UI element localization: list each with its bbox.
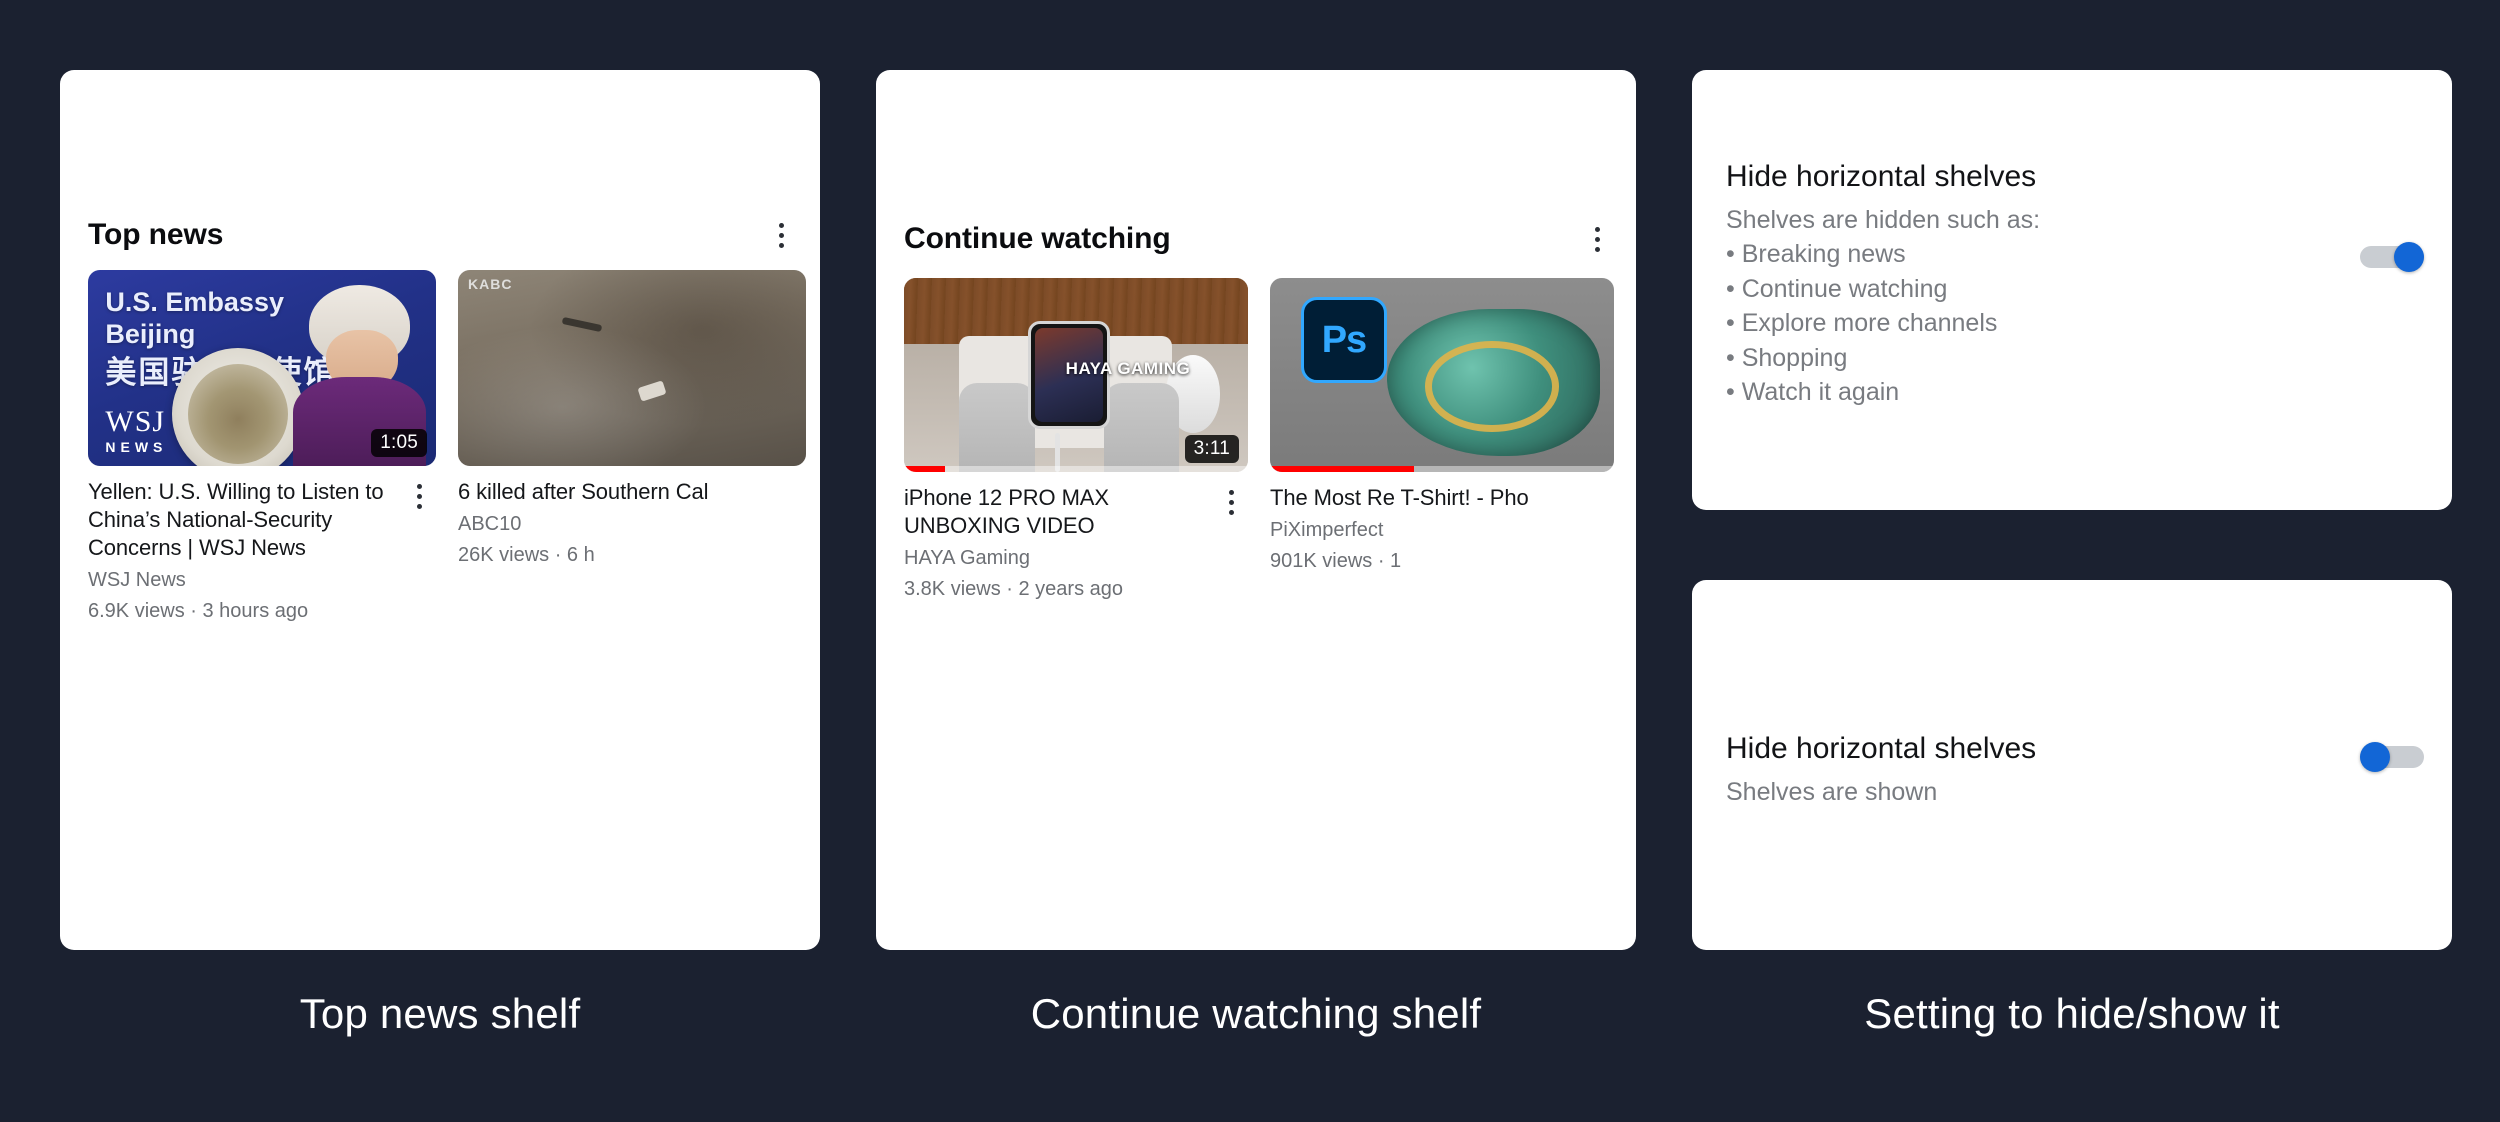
video-duration-badge: 1:05 (371, 429, 427, 457)
thumbnail-art-aerial: KABC (458, 270, 806, 466)
panel-setting: Hide horizontal shelves Shelves are hidd… (1692, 0, 2452, 1122)
shelf-header-top-news: Top news (88, 218, 798, 252)
video-thumbnail[interactable]: Ps (1270, 278, 1614, 472)
toggle-knob (2394, 242, 2424, 272)
panel-continue-watching: Continue watching (876, 0, 1636, 1122)
video-card[interactable]: Ps The Most Re T-Shirt! - Pho PiXimperfe… (1270, 278, 1614, 602)
photoshop-badge-icon: Ps (1301, 297, 1387, 383)
panel-caption: Setting to hide/show it (1692, 990, 2452, 1038)
setting-description: Shelves are hidden such as: • Breaking n… (1726, 203, 2336, 410)
video-stats: 6.9K views · 3 hours ago (88, 598, 396, 624)
video-shelf-row[interactable]: U.S. Embassy Beijing 美国驻华大使馆 WSJ NEWS (88, 270, 820, 624)
phone-screen-continue-watching: Continue watching (876, 70, 1636, 950)
video-duration-badge: 3:11 (1185, 435, 1239, 463)
thumbnail-overlay-text: HAYA GAMING (1066, 359, 1191, 379)
video-card[interactable]: U.S. Embassy Beijing 美国驻华大使馆 WSJ NEWS (88, 270, 436, 624)
video-stats: 3.8K views · 2 years ago (904, 576, 1208, 602)
hide-shelves-toggle[interactable] (2360, 242, 2424, 272)
video-overflow-menu-icon[interactable] (1214, 486, 1248, 520)
embassy-seal-icon (172, 348, 304, 465)
debris-shape (637, 380, 666, 401)
wsj-logo: WSJ NEWS (105, 407, 167, 454)
video-metadata: The Most Re T-Shirt! - Pho PiXimperfect … (1270, 472, 1614, 574)
hide-shelves-toggle[interactable] (2360, 742, 2424, 772)
video-overflow-menu-icon[interactable] (402, 480, 436, 514)
video-channel[interactable]: PiXimperfect (1270, 517, 1614, 543)
dragon-illustration (1387, 309, 1600, 456)
setting-card-shown-state: Hide horizontal shelves Shelves are show… (1692, 580, 2452, 950)
shelf-title: Continue watching (904, 222, 1171, 256)
video-title[interactable]: Yellen: U.S. Willing to Listen to China’… (88, 478, 396, 562)
shelf-overflow-menu-icon[interactable] (764, 218, 798, 252)
setting-title: Hide horizontal shelves (1726, 158, 2336, 196)
wsj-logo-text: WSJ (105, 405, 165, 438)
video-stats: 26K views · 6 h (458, 542, 806, 568)
setting-bullet: • Breaking news (1726, 237, 2336, 272)
shelf-header-continue-watching: Continue watching (904, 222, 1614, 256)
video-stats: 901K views · 1 (1270, 548, 1614, 574)
setting-bullet: • Shopping (1726, 341, 2336, 376)
video-shelf-row[interactable]: HAYA GAMING 3:11 iPhone 12 PRO MAX UNBOX… (904, 278, 1636, 602)
video-title[interactable]: The Most Re T-Shirt! - Pho (1270, 484, 1614, 512)
panel-caption: Continue watching shelf (876, 990, 1636, 1038)
helicopter-shape-icon (562, 317, 603, 332)
shelf-title: Top news (88, 218, 223, 252)
thumbnail-headline-en: U.S. Embassy Beijing (105, 287, 284, 349)
video-metadata: 6 killed after Southern Cal ABC10 26K vi… (458, 466, 806, 568)
setting-row[interactable]: Hide horizontal shelves Shelves are hidd… (1726, 158, 2424, 410)
shelf-overflow-menu-icon[interactable] (1580, 222, 1614, 256)
wsj-logo-sub: NEWS (105, 440, 167, 454)
video-metadata: iPhone 12 PRO MAX UNBOXING VIDEO HAYA Ga… (904, 472, 1248, 602)
thumbnail-watermark: KABC (468, 276, 512, 292)
panel-top-news: Top news U.S. Embassy Beijing 美国驻华大使馆 (60, 0, 820, 1122)
video-channel[interactable]: HAYA Gaming (904, 545, 1208, 571)
video-thumbnail[interactable]: KABC (458, 270, 806, 466)
setting-bullet: • Explore more channels (1726, 306, 2336, 341)
video-title[interactable]: iPhone 12 PRO MAX UNBOXING VIDEO (904, 484, 1208, 540)
phone-screen-top-news: Top news U.S. Embassy Beijing 美国驻华大使馆 (60, 70, 820, 950)
video-thumbnail[interactable]: U.S. Embassy Beijing 美国驻华大使馆 WSJ NEWS (88, 270, 436, 466)
setting-title: Hide horizontal shelves (1726, 730, 2336, 768)
setting-bullet: • Continue watching (1726, 272, 2336, 307)
setting-row[interactable]: Hide horizontal shelves Shelves are show… (1726, 730, 2424, 809)
setting-description: Shelves are shown (1726, 775, 2336, 810)
video-card[interactable]: KABC 6 killed after Southern Cal ABC10 2… (458, 270, 806, 624)
video-card[interactable]: HAYA GAMING 3:11 iPhone 12 PRO MAX UNBOX… (904, 278, 1248, 602)
setting-description-lead: Shelves are shown (1726, 775, 2336, 810)
video-title[interactable]: 6 killed after Southern Cal (458, 478, 806, 506)
video-metadata: Yellen: U.S. Willing to Listen to China’… (88, 466, 436, 624)
video-channel[interactable]: ABC10 (458, 511, 806, 537)
comparison-board: Top news U.S. Embassy Beijing 美国驻华大使馆 (0, 0, 2500, 1122)
toggle-knob (2360, 742, 2390, 772)
setting-bullet: • Watch it again (1726, 375, 2336, 410)
video-channel[interactable]: WSJ News (88, 567, 396, 593)
watch-progress-bar (1270, 466, 1614, 472)
video-thumbnail[interactable]: HAYA GAMING 3:11 (904, 278, 1248, 472)
watch-progress-bar (904, 466, 1248, 472)
setting-description-lead: Shelves are hidden such as: (1726, 203, 2336, 238)
panel-caption: Top news shelf (60, 990, 820, 1038)
setting-card-hidden-state: Hide horizontal shelves Shelves are hidd… (1692, 70, 2452, 510)
thumbnail-art-photoshop: Ps (1270, 278, 1614, 472)
